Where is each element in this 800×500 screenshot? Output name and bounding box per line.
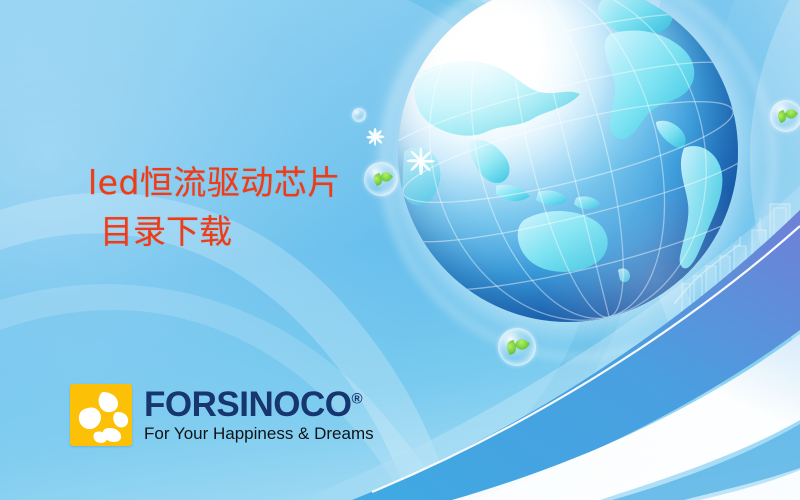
banner-image: led恒流驱动芯片 目录下载 FORSINOCO® For Your Happi… — [0, 0, 800, 500]
brand-word: FORSINOCO — [144, 385, 351, 424]
headline-line-1: led恒流驱动芯片 — [88, 162, 508, 205]
page-title: led恒流驱动芯片 目录下载 — [88, 162, 508, 254]
four-petal-flower-icon — [70, 384, 132, 446]
headline-line-2: 目录下载 — [100, 211, 508, 254]
brand-name: FORSINOCO® — [144, 387, 374, 422]
registered-mark: ® — [351, 390, 362, 407]
brand-tagline: For Your Happiness & Dreams — [144, 425, 374, 443]
brand-logo: FORSINOCO® For Your Happiness & Dreams — [70, 384, 374, 446]
